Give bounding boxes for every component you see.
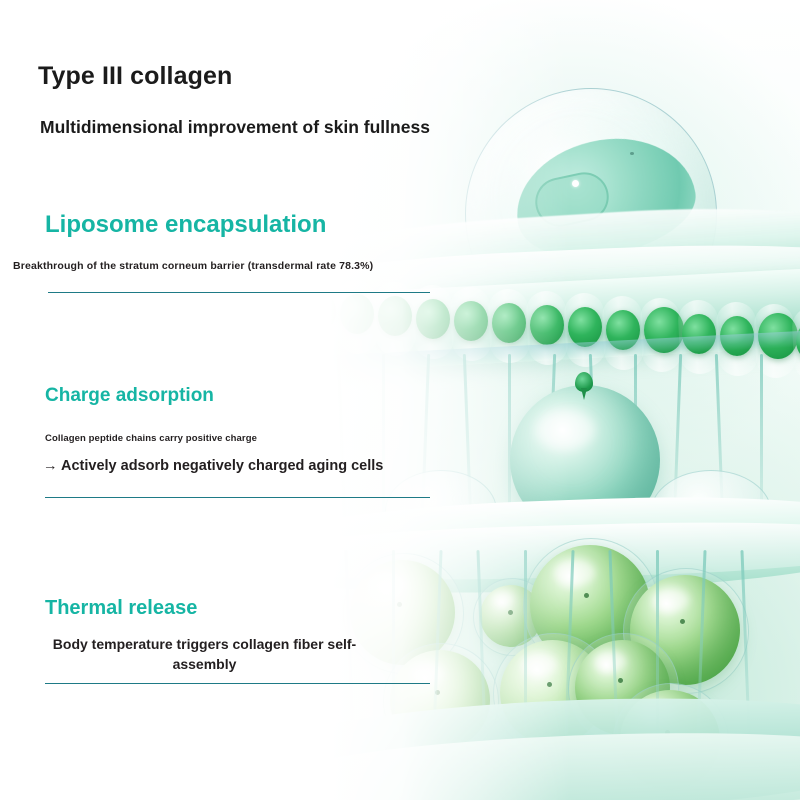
divider-charge [45, 497, 430, 498]
section-title-thermal: Thermal release [45, 597, 197, 620]
divider-thermal [45, 683, 430, 684]
text-layer: Type III collagen Multidimensional impro… [0, 0, 800, 800]
section-body-thermal: Body temperature triggers collagen fiber… [22, 634, 387, 674]
divider-liposome [48, 292, 430, 293]
section-title-liposome: Liposome encapsulation [45, 211, 326, 239]
page-subtitle: Multidimensional improvement of skin ful… [40, 117, 430, 138]
page-title: Type III collagen [38, 62, 232, 91]
section-body-charge-arrow: → Actively adsorb negatively charged agi… [43, 458, 383, 474]
section-body-charge: Collagen peptide chains carry positive c… [45, 433, 257, 444]
infographic-canvas: Type III collagen Multidimensional impro… [0, 0, 800, 800]
section-title-charge: Charge adsorption [45, 385, 214, 407]
section-body-liposome: Breakthrough of the stratum corneum barr… [13, 260, 373, 272]
